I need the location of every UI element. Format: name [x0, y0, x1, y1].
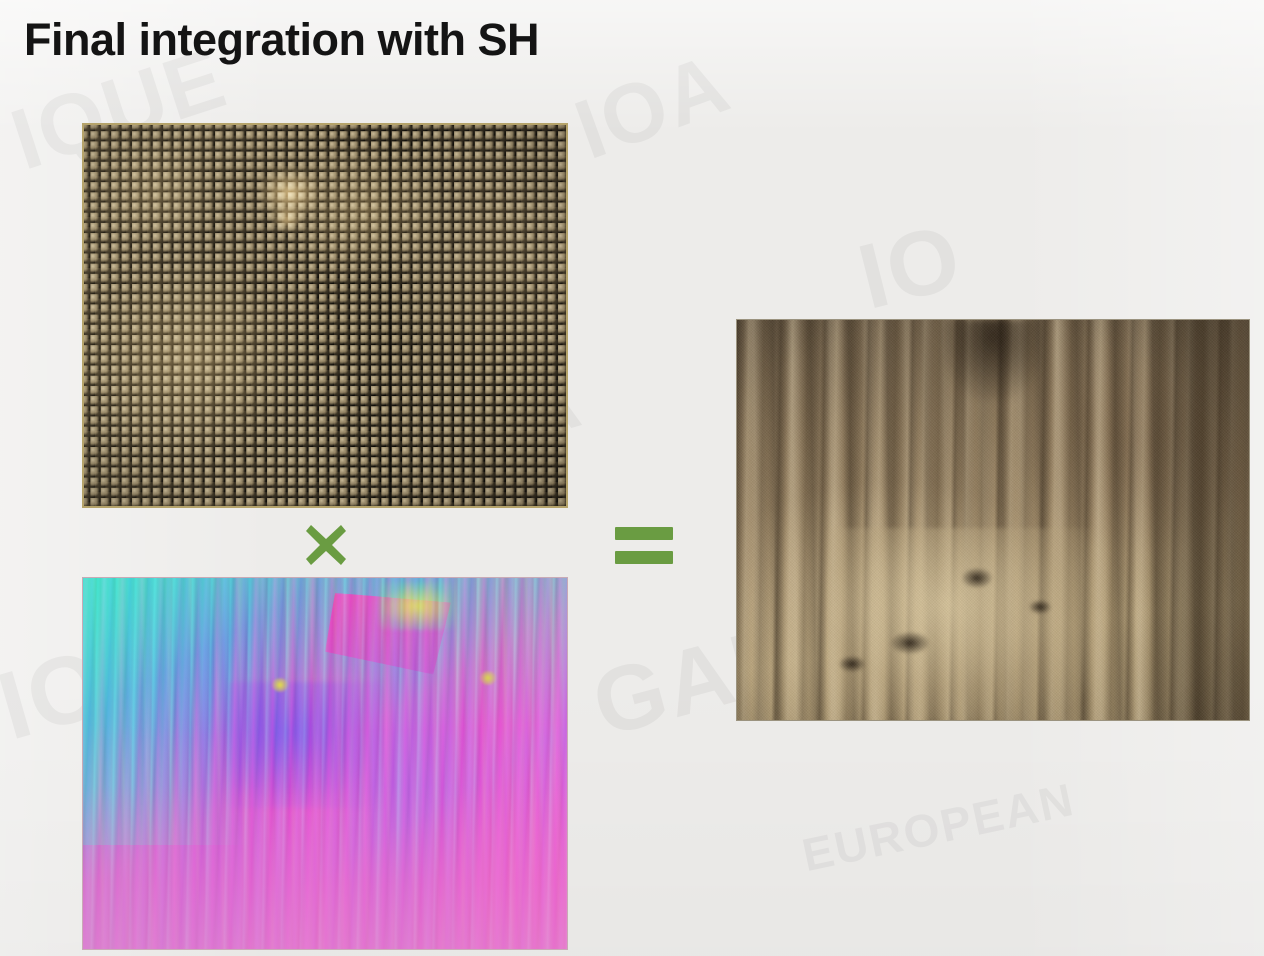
result-vignette	[737, 320, 1249, 720]
watermark: EUROPEAN	[797, 772, 1079, 882]
figure-sh-irradiance	[82, 123, 568, 508]
watermark: IO	[849, 204, 973, 330]
slide-canvas: IQUE IOA IO A IO GAMES EUROPEAN BY Final…	[0, 0, 1264, 956]
normalmap-yellow-dot	[272, 678, 288, 692]
figure-final-result	[736, 319, 1250, 721]
equals-icon	[615, 525, 673, 567]
normalmap-pink-bottom-wash	[83, 786, 567, 949]
sh-vignette	[84, 125, 566, 506]
multiply-icon	[303, 522, 349, 568]
normalmap-yellow-dot	[480, 671, 496, 685]
equals-bar-top	[615, 527, 673, 540]
page-title: Final integration with SH	[24, 14, 539, 66]
equals-bar-bottom	[615, 551, 673, 564]
figure-normal-detail-map	[82, 577, 568, 950]
watermark: IOA	[563, 34, 742, 178]
